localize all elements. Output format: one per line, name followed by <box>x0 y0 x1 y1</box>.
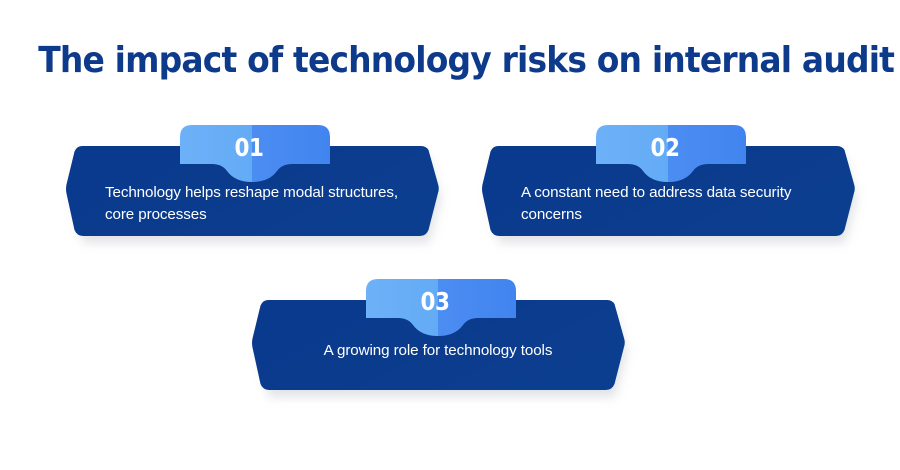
card-body-text: A constant need to address data security… <box>521 182 831 225</box>
card-number-label: 03 <box>364 289 505 314</box>
card-body-text: Technology helps reshape modal structure… <box>105 182 415 225</box>
card-number-label: 01 <box>178 135 319 160</box>
page-title: The impact of technology risks on intern… <box>38 42 862 80</box>
info-card-01[interactable]: 01 Technology helps reshape modal struct… <box>66 118 438 258</box>
card-number-label: 02 <box>594 135 735 160</box>
info-card-03[interactable]: 03 A growing role for technology tools <box>252 272 624 412</box>
card-body-text: A growing role for technology tools <box>278 340 598 362</box>
info-card-02[interactable]: 02 A constant need to address data secur… <box>482 118 854 258</box>
infographic-canvas: The impact of technology risks on intern… <box>0 0 900 470</box>
